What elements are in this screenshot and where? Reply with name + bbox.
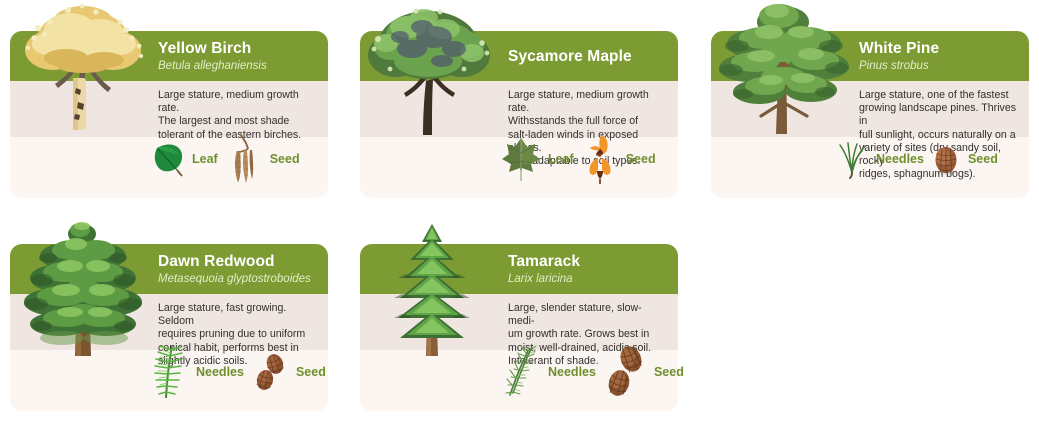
legend-label: Needles bbox=[196, 365, 244, 379]
tree-card-board: Yellow Birch Betula alleghaniensis Large… bbox=[0, 0, 1039, 424]
maple-leaf-icon bbox=[500, 135, 542, 183]
legend-label: Seed bbox=[654, 365, 684, 379]
tree-card-tamarack[interactable]: Tamarack Larix laricina Large, slender s… bbox=[360, 244, 678, 411]
description-line: Withsstands the full force of bbox=[508, 115, 668, 128]
tree-latin-name: Metasequoia glyptostroboides bbox=[158, 272, 318, 286]
tree-card-yellow-birch[interactable]: Yellow Birch Betula alleghaniensis Large… bbox=[10, 31, 328, 198]
description-line: Large stature, fast growing. Seldom bbox=[158, 302, 318, 328]
maple-samara-seed-icon bbox=[580, 133, 620, 185]
tree-title: Tamarack bbox=[508, 253, 668, 270]
tree-title: Yellow Birch bbox=[158, 40, 318, 57]
legend-label: Seed bbox=[968, 152, 998, 166]
legend-label: Seed bbox=[626, 152, 656, 166]
card-legend: Leaf Seed bbox=[152, 137, 300, 180]
description-line: requires pruning due to uniform bbox=[158, 328, 318, 341]
tree-card-sycamore-maple[interactable]: Sycamore Maple Large stature, medium gro… bbox=[360, 31, 678, 198]
card-legend: Needles bbox=[150, 350, 326, 393]
description-line: Large stature, medium growth rate. bbox=[508, 89, 668, 115]
redwood-cone-seed-icon bbox=[250, 349, 290, 395]
card-title-area: Dawn Redwood Metasequoia glyptostroboide… bbox=[150, 244, 318, 294]
broadleaf-icon bbox=[152, 142, 186, 176]
larch-cone-seed-icon bbox=[602, 343, 648, 401]
tree-card-dawn-redwood[interactable]: Dawn Redwood Metasequoia glyptostroboide… bbox=[10, 244, 328, 411]
description-line: growing landscape pines. Thrives in bbox=[859, 102, 1019, 128]
card-title-area: Yellow Birch Betula alleghaniensis bbox=[150, 31, 318, 81]
pine-needles-icon bbox=[836, 140, 870, 178]
legend-label: Needles bbox=[548, 365, 596, 379]
legend-label: Leaf bbox=[548, 152, 574, 166]
card-title-area: White Pine Pinus strobus bbox=[851, 31, 1019, 81]
tree-latin-name: Betula alleghaniensis bbox=[158, 59, 318, 73]
card-title-area: Tamarack Larix laricina bbox=[500, 244, 668, 294]
tree-title: White Pine bbox=[859, 40, 1019, 57]
tree-title: Dawn Redwood bbox=[158, 253, 318, 270]
legend-label: Seed bbox=[296, 365, 326, 379]
card-legend: Needles bbox=[500, 350, 684, 393]
pine-cone-seed-icon bbox=[930, 142, 962, 176]
description-line: Large stature, one of the fastest bbox=[859, 89, 1019, 102]
tree-latin-name: Larix laricina bbox=[508, 272, 668, 286]
card-legend: Needles Seed bbox=[836, 137, 998, 180]
redwood-frond-needles-icon bbox=[150, 344, 190, 400]
description-line: um growth rate. Grows best in bbox=[508, 328, 668, 341]
legend-label: Seed bbox=[270, 152, 300, 166]
larch-needle-spray-icon bbox=[500, 343, 542, 401]
legend-label: Leaf bbox=[192, 152, 218, 166]
tree-title: Sycamore Maple bbox=[508, 48, 668, 65]
card-text-block: Yellow Birch Betula alleghaniensis Large… bbox=[150, 31, 318, 142]
legend-label: Needles bbox=[876, 152, 924, 166]
tree-latin-name: Pinus strobus bbox=[859, 59, 1019, 73]
description-line: Large stature, medium growth rate. bbox=[158, 89, 318, 115]
card-legend: Leaf Seed bbox=[500, 137, 656, 180]
tree-card-white-pine[interactable]: White Pine Pinus strobus Large stature, … bbox=[711, 31, 1029, 198]
description-line: Large, slender stature, slow-medi- bbox=[508, 302, 668, 328]
card-title-area: Sycamore Maple bbox=[500, 31, 668, 81]
birch-catkin-seed-icon bbox=[224, 131, 264, 187]
description-line: The largest and most shade bbox=[158, 115, 318, 128]
